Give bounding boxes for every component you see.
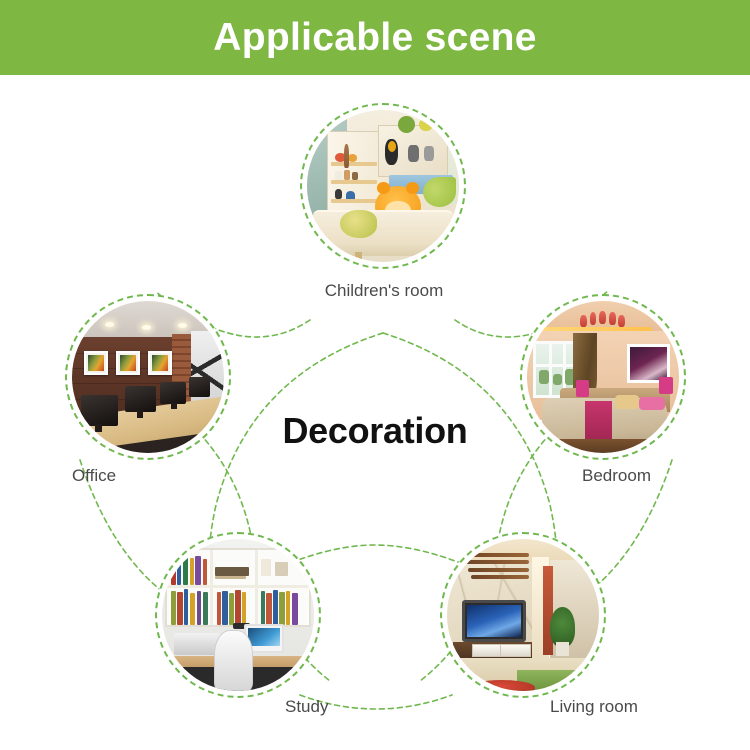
scene-label-children-room: Children's room [234,281,534,301]
applicable-scene-diagram: Decoration [0,75,750,750]
scene-circle-study[interactable] [155,532,321,698]
photo-living-room [447,539,599,691]
scene-circle-children-room[interactable] [300,103,466,269]
photo-bedroom [527,301,679,453]
photo-study [162,539,314,691]
scene-label-bedroom: Bedroom [582,466,732,486]
scene-label-study: Study [285,697,435,717]
scene-label-living-room: Living room [550,697,750,717]
scene-circle-office[interactable] [65,294,231,460]
header-banner: Applicable scene [0,0,750,75]
scene-label-office: Office [19,466,169,486]
photo-children-room [307,110,459,262]
scene-circle-living-room[interactable] [440,532,606,698]
page-title: Applicable scene [213,18,536,57]
photo-office [72,301,224,453]
scene-circle-bedroom[interactable] [520,294,686,460]
